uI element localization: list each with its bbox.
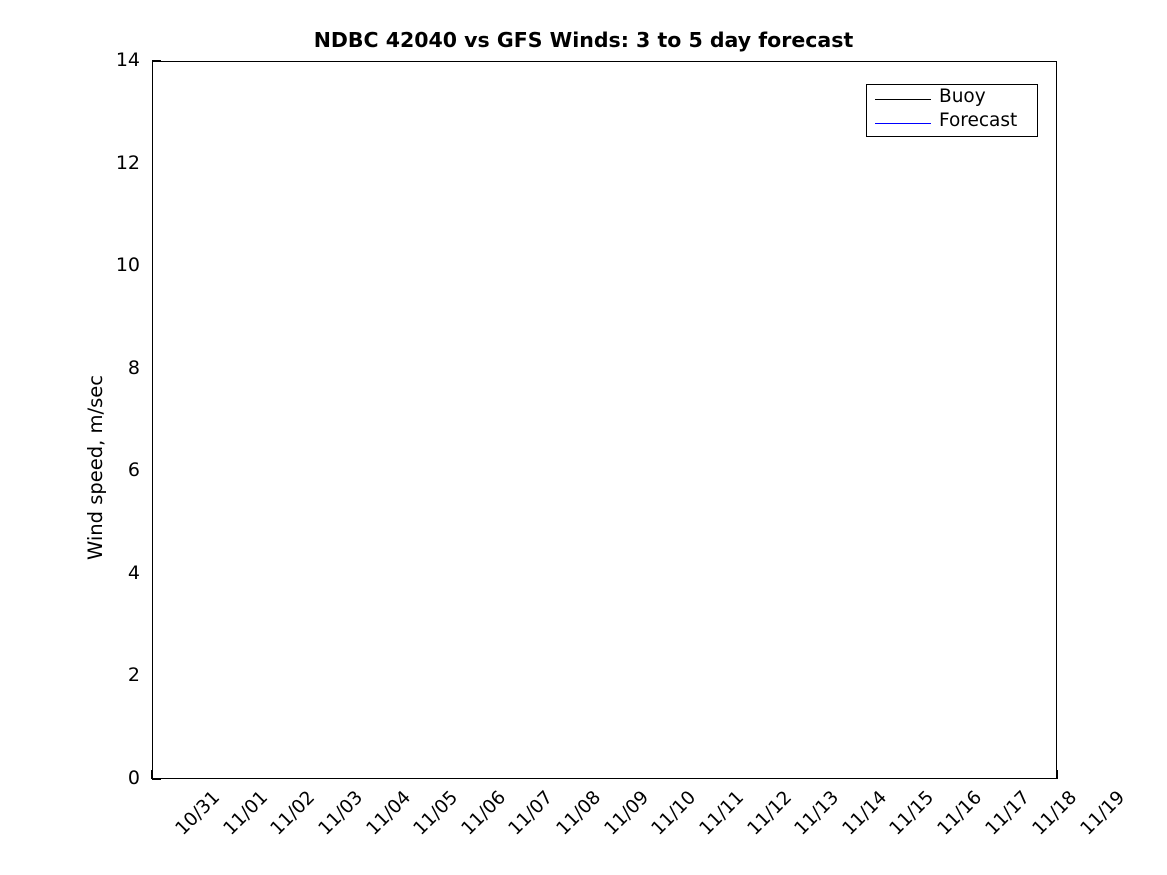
y-tick-label: 0 <box>80 767 140 789</box>
x-tick-label: 11/12 <box>743 787 796 840</box>
x-tick-label: 11/04 <box>362 787 415 840</box>
x-tick-label: 11/01 <box>219 787 272 840</box>
x-tick-label: 11/16 <box>934 787 987 840</box>
plot-frame <box>152 61 1057 779</box>
legend-label-buoy: Buoy <box>939 86 986 107</box>
x-tick-label: 11/10 <box>648 787 701 840</box>
chart-title: NDBC 42040 vs GFS Winds: 3 to 5 day fore… <box>0 28 1167 52</box>
y-tick-label: 8 <box>80 357 140 379</box>
x-tick-label: 11/06 <box>457 787 510 840</box>
legend-label-forecast: Forecast <box>939 110 1017 131</box>
x-tick-label: 11/19 <box>1077 787 1130 840</box>
x-tick-label: 11/08 <box>553 787 606 840</box>
x-tick-label: 11/15 <box>886 787 939 840</box>
x-tick-label: 11/05 <box>410 787 463 840</box>
y-tick-label: 14 <box>80 49 140 71</box>
x-tick-label: 11/13 <box>791 787 844 840</box>
x-tick-label: 11/18 <box>1029 787 1082 840</box>
legend-swatch-forecast <box>875 123 931 124</box>
x-tick-label: 10/31 <box>172 787 225 840</box>
legend-entry-forecast: Forecast <box>867 111 1039 137</box>
y-tick-label: 12 <box>80 152 140 174</box>
y-tick-label: 2 <box>80 664 140 686</box>
figure: NDBC 42040 vs GFS Winds: 3 to 5 day fore… <box>0 0 1167 875</box>
x-tick-label: 11/02 <box>267 787 320 840</box>
y-tick-label: 6 <box>80 459 140 481</box>
x-tick-label: 11/14 <box>838 787 891 840</box>
x-tick-label: 11/03 <box>315 787 368 840</box>
x-tick-label: 11/17 <box>981 787 1034 840</box>
y-tick-label: 10 <box>80 254 140 276</box>
legend[interactable]: Buoy Forecast <box>866 84 1038 137</box>
x-tick-label: 11/09 <box>600 787 653 840</box>
legend-swatch-buoy <box>875 99 931 100</box>
x-tick-label: 11/11 <box>696 787 749 840</box>
x-tick-label: 11/07 <box>505 787 558 840</box>
y-tick-label: 4 <box>80 562 140 584</box>
